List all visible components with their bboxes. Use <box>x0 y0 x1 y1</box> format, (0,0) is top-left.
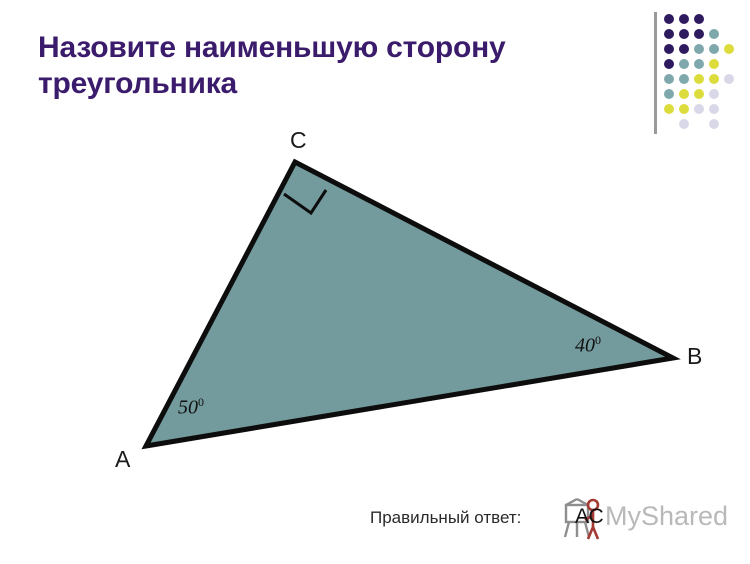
vertex-label-a: A <box>115 448 130 471</box>
angle-a-unit: 0 <box>198 395 204 409</box>
angle-a-value: 50 <box>178 397 198 419</box>
triangle-shape <box>146 162 673 446</box>
slide-canvas: Назовите наименьшую сторону треугольника… <box>0 0 750 564</box>
angle-b-unit: 0 <box>595 333 601 347</box>
angle-b-value: 40 <box>575 335 595 357</box>
vertex-label-c: C <box>290 129 307 152</box>
answer-label: Правильный ответ: <box>370 508 521 528</box>
vertex-label-b: B <box>687 345 702 368</box>
angle-label-b: 400 <box>575 334 601 356</box>
triangle-figure <box>0 0 750 564</box>
angle-label-a: 500 <box>178 396 204 418</box>
watermark-text: MyShared <box>605 501 728 532</box>
answer-value: АС <box>575 505 604 529</box>
